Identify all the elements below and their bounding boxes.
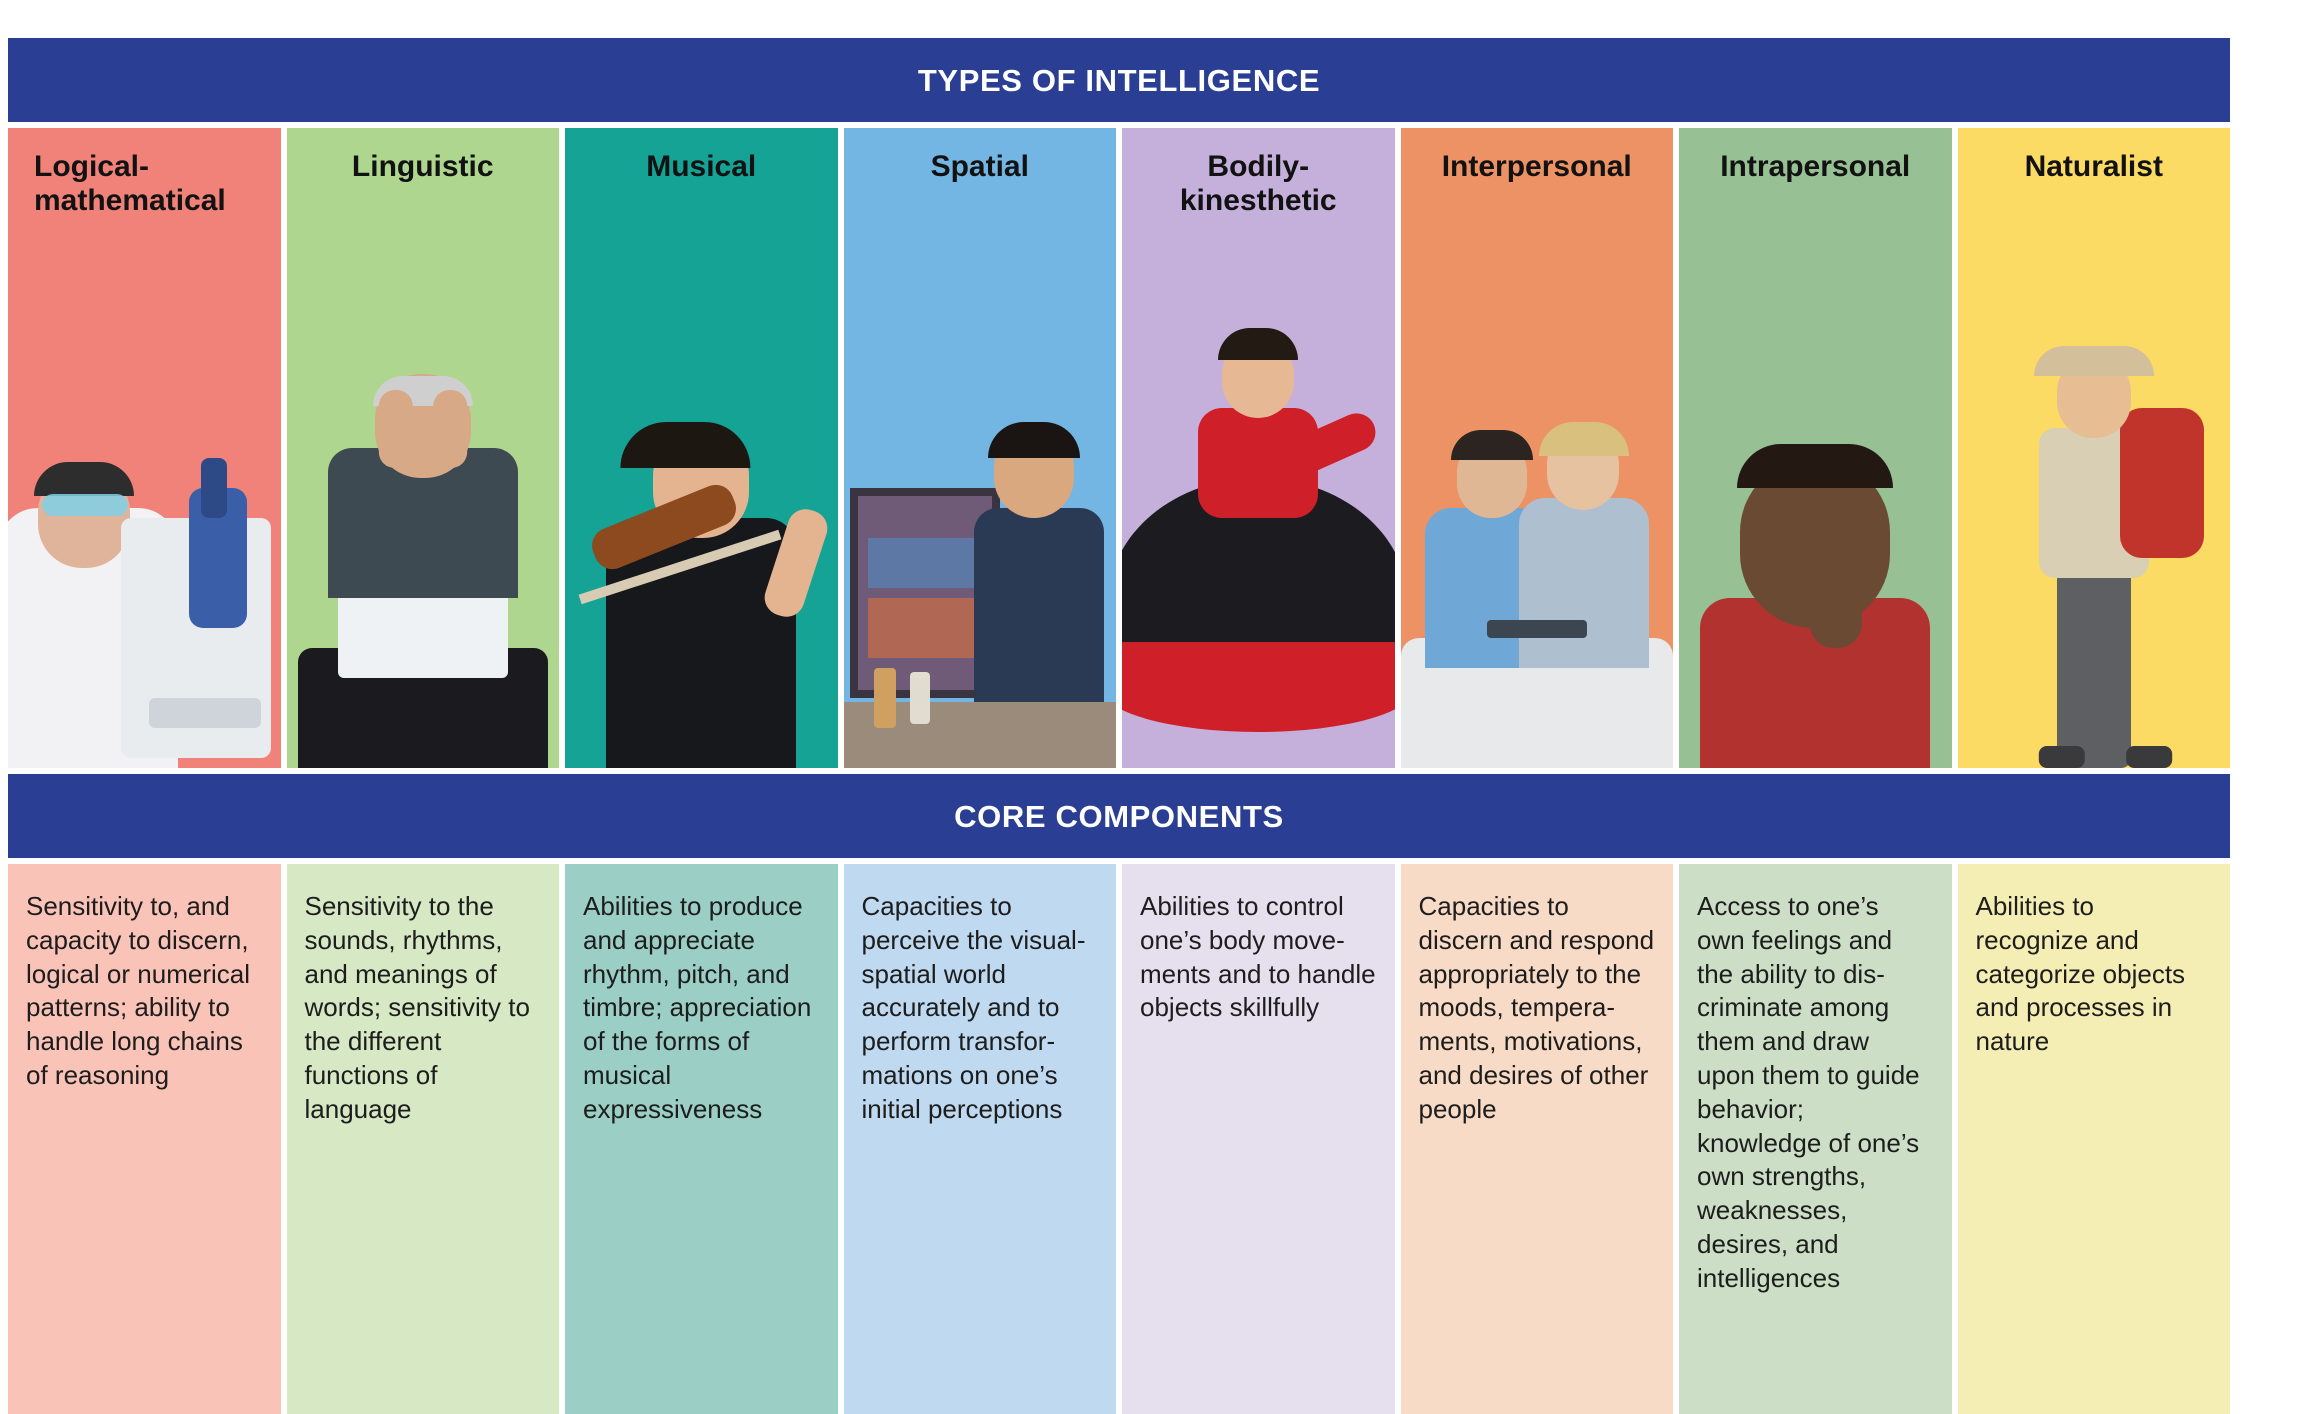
- intelligence-column-3: Musical: [565, 128, 838, 768]
- core-component-column-4: Capacities to perceive the visual-spatia…: [844, 864, 1117, 1414]
- intelligence-header-cell: Musical: [565, 128, 838, 768]
- intelligence-title: Spatial: [923, 150, 1037, 184]
- core-component-text: Abilities to control one’s body move-men…: [1122, 864, 1395, 1414]
- intelligence-title: Linguistic: [344, 150, 502, 184]
- intelligence-header-cell: Logical- mathematical: [8, 128, 281, 768]
- core-components-banner: CORE COMPONENTS: [8, 774, 2230, 858]
- intelligence-title: Naturalist: [2017, 150, 2171, 184]
- intelligence-column-4: Spatial: [844, 128, 1117, 768]
- intelligence-column-2: Linguistic: [287, 128, 560, 768]
- painter-at-easel-photo: [844, 268, 1117, 768]
- intelligence-header-row: Logical- mathematicalLinguisticMusicalSp…: [8, 128, 2230, 768]
- intelligence-header-cell: Linguistic: [287, 128, 560, 768]
- violinist-photo: [565, 268, 838, 768]
- photo-credit: Photos left to right: anyaivanova/Shutte…: [2252, 1410, 2275, 1414]
- core-component-column-7: Access to one’s own feelings and the abi…: [1679, 864, 1952, 1414]
- core-component-text: Sensitivity to the sounds, rhythms, and …: [287, 864, 560, 1414]
- intelligence-header-cell: Intrapersonal: [1679, 128, 1952, 768]
- types-of-intelligence-figure: TYPES OF INTELLIGENCE Logical- mathemati…: [8, 38, 2230, 1414]
- core-component-column-1: Sensitivity to, and capacity to discern,…: [8, 864, 281, 1414]
- types-of-intelligence-banner: TYPES OF INTELLIGENCE: [8, 38, 2230, 122]
- therapy-session-photo: [1401, 268, 1674, 768]
- intelligence-header-cell: Interpersonal: [1401, 128, 1674, 768]
- core-component-text: Abilities to recognize and categorize ob…: [1958, 864, 2231, 1414]
- thoughtful-man-photo: [1679, 268, 1952, 768]
- flamenco-dancer-photo: [1122, 268, 1395, 768]
- core-component-text: Capacities to perceive the visual-spatia…: [844, 864, 1117, 1414]
- intelligence-title: Intrapersonal: [1712, 150, 1918, 184]
- hiker-with-backpack-photo: [1958, 268, 2231, 768]
- intelligence-header-cell: Bodily- kinesthetic: [1122, 128, 1395, 768]
- intelligence-column-1: Logical- mathematical: [8, 128, 281, 768]
- core-component-column-8: Abilities to recognize and categorize ob…: [1958, 864, 2231, 1414]
- core-components-row: Sensitivity to, and capacity to discern,…: [8, 864, 2230, 1414]
- writer-at-typewriter-photo: [287, 268, 560, 768]
- intelligence-column-7: Intrapersonal: [1679, 128, 1952, 768]
- intelligence-column-8: Naturalist: [1958, 128, 2231, 768]
- core-component-column-2: Sensitivity to the sounds, rhythms, and …: [287, 864, 560, 1414]
- intelligence-title: Logical- mathematical: [26, 150, 234, 217]
- core-component-text: Access to one’s own feelings and the abi…: [1679, 864, 1952, 1414]
- intelligence-header-cell: Naturalist: [1958, 128, 2231, 768]
- intelligence-title: Bodily- kinesthetic: [1172, 150, 1345, 217]
- intelligence-column-6: Interpersonal: [1401, 128, 1674, 768]
- photo-credit-container: Photos left to right: anyaivanova/Shutte…: [2237, 0, 2299, 1414]
- intelligence-column-5: Bodily- kinesthetic: [1122, 128, 1395, 768]
- intelligence-title: Interpersonal: [1434, 150, 1640, 184]
- core-component-column-5: Abilities to control one’s body move-men…: [1122, 864, 1395, 1414]
- core-component-column-3: Abilities to produce and appreciate rhyt…: [565, 864, 838, 1414]
- intelligence-header-cell: Spatial: [844, 128, 1117, 768]
- infographic-page: TYPES OF INTELLIGENCE Logical- mathemati…: [0, 0, 2299, 1414]
- core-component-text: Sensitivity to, and capacity to discern,…: [8, 864, 281, 1414]
- core-component-text: Abilities to produce and appreciate rhyt…: [565, 864, 838, 1414]
- core-component-text: Capacities to discern and respond approp…: [1401, 864, 1674, 1414]
- scientist-with-microscope-photo: [8, 268, 281, 768]
- core-component-column-6: Capacities to discern and respond approp…: [1401, 864, 1674, 1414]
- intelligence-title: Musical: [638, 150, 764, 184]
